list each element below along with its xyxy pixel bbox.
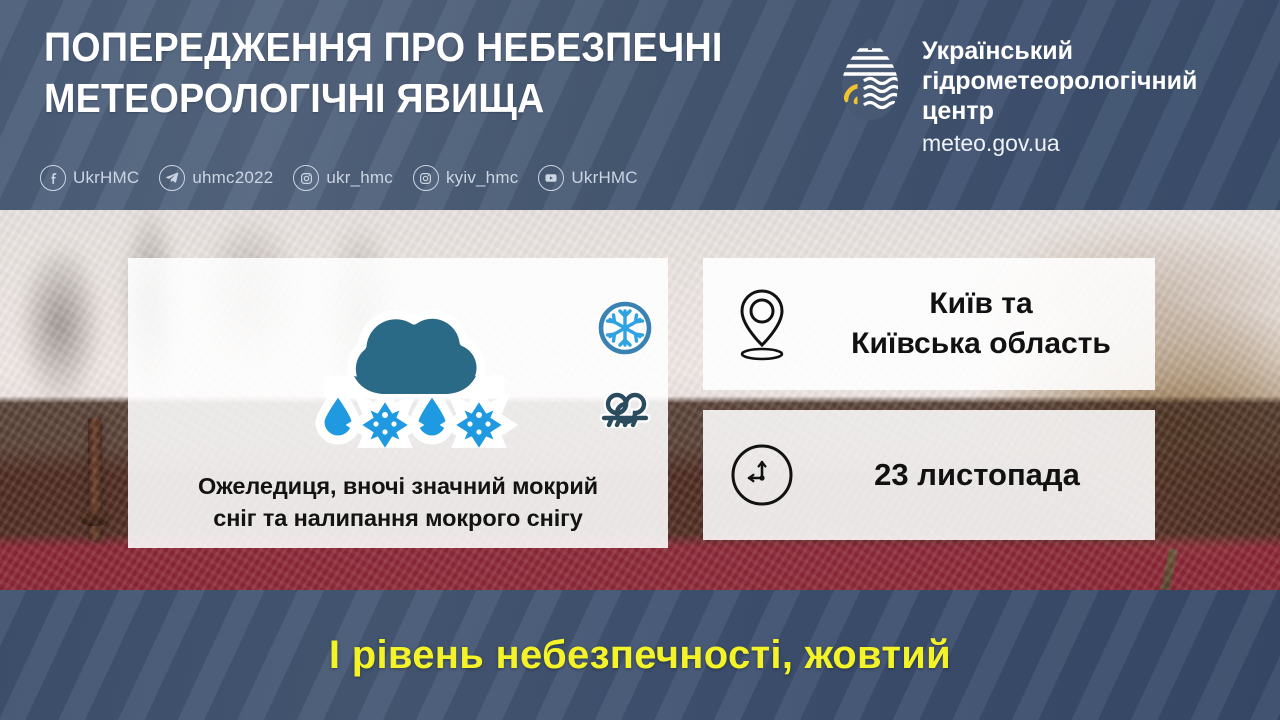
social-link-instagram-ukr[interactable]: ukr_hmc: [293, 165, 393, 191]
social-link-youtube[interactable]: UkrHMC: [538, 165, 637, 191]
ukrhmc-logo-icon: [838, 36, 902, 122]
youtube-icon: [538, 165, 564, 191]
region-name: Київ та Київська область: [821, 284, 1155, 364]
logo-text: Український гідрометеорологічний центр: [922, 36, 1197, 126]
danger-level-text: І рівень небезпечності, жовтий: [329, 633, 951, 678]
page-title: ПОПЕРЕДЖЕННЯ ПРО НЕБЕЗПЕЧНІ МЕТЕОРОЛОГІЧ…: [44, 22, 762, 124]
social-handle-instagram-kyiv: kyiv_hmc: [446, 168, 518, 188]
map-pin-icon: [734, 285, 790, 363]
logo-line-1: Український: [922, 36, 1197, 66]
pin-icon-box: [703, 285, 821, 363]
header-band: ПОПЕРЕДЖЕННЯ ПРО НЕБЕЗПЕЧНІ МЕТЕОРОЛОГІЧ…: [0, 0, 1280, 210]
social-links: UkrHMC uhmc2022 ukr_hm: [40, 165, 649, 191]
cloud-rain-snow-icon: [298, 298, 528, 448]
social-link-telegram[interactable]: uhmc2022: [159, 165, 273, 191]
clock-icon: [729, 442, 795, 508]
social-handle-telegram: uhmc2022: [192, 168, 273, 188]
warning-date: 23 листопада: [821, 457, 1155, 493]
footer-band: І рівень небезпечності, жовтий: [0, 590, 1280, 720]
snowflake-circle-icon: [597, 300, 653, 356]
organization-logo[interactable]: Український гідрометеорологічний центр m…: [838, 36, 1197, 158]
weather-warning-poster: ПОПЕРЕДЖЕННЯ ПРО НЕБЕЗПЕЧНІ МЕТЕОРОЛОГІЧ…: [0, 0, 1280, 720]
phenomena-icons: [128, 280, 668, 460]
instagram-icon: [413, 165, 439, 191]
social-handle-youtube: UkrHMC: [571, 168, 637, 188]
logo-website[interactable]: meteo.gov.ua: [922, 128, 1197, 158]
phenomena-description: Ожеледиця, вночі значний мокрий сніг та …: [128, 470, 668, 534]
instagram-icon: [293, 165, 319, 191]
telegram-icon: [159, 165, 185, 191]
social-handle-facebook: UkrHMC: [73, 168, 139, 188]
phenomena-panel: Ожеледиця, вночі значний мокрий сніг та …: [128, 258, 668, 548]
logo-line-2: гідрометеорологічний: [922, 66, 1197, 96]
clock-icon-box: [703, 442, 821, 508]
secondary-icons: [596, 300, 654, 428]
region-line-2: Київська область: [821, 324, 1141, 364]
social-link-facebook[interactable]: UkrHMC: [40, 165, 139, 191]
date-panel: 23 листопада: [703, 410, 1155, 540]
phenomena-line-1: Ожеледиця, вночі значний мокрий: [128, 470, 668, 502]
glaze-ice-icon: [596, 382, 654, 428]
logo-line-3: центр: [922, 96, 1197, 126]
social-link-instagram-kyiv[interactable]: kyiv_hmc: [413, 165, 518, 191]
facebook-icon: [40, 165, 66, 191]
page-title-line-1: ПОПЕРЕДЖЕННЯ ПРО НЕБЕЗПЕЧНІ: [44, 22, 762, 73]
phenomena-line-2: сніг та налипання мокрого снігу: [128, 502, 668, 534]
social-handle-instagram-ukr: ukr_hmc: [326, 168, 393, 188]
page-title-line-2: МЕТЕОРОЛОГІЧНІ ЯВИЩА: [44, 73, 762, 124]
region-line-1: Київ та: [821, 284, 1141, 324]
region-panel: Київ та Київська область: [703, 258, 1155, 390]
